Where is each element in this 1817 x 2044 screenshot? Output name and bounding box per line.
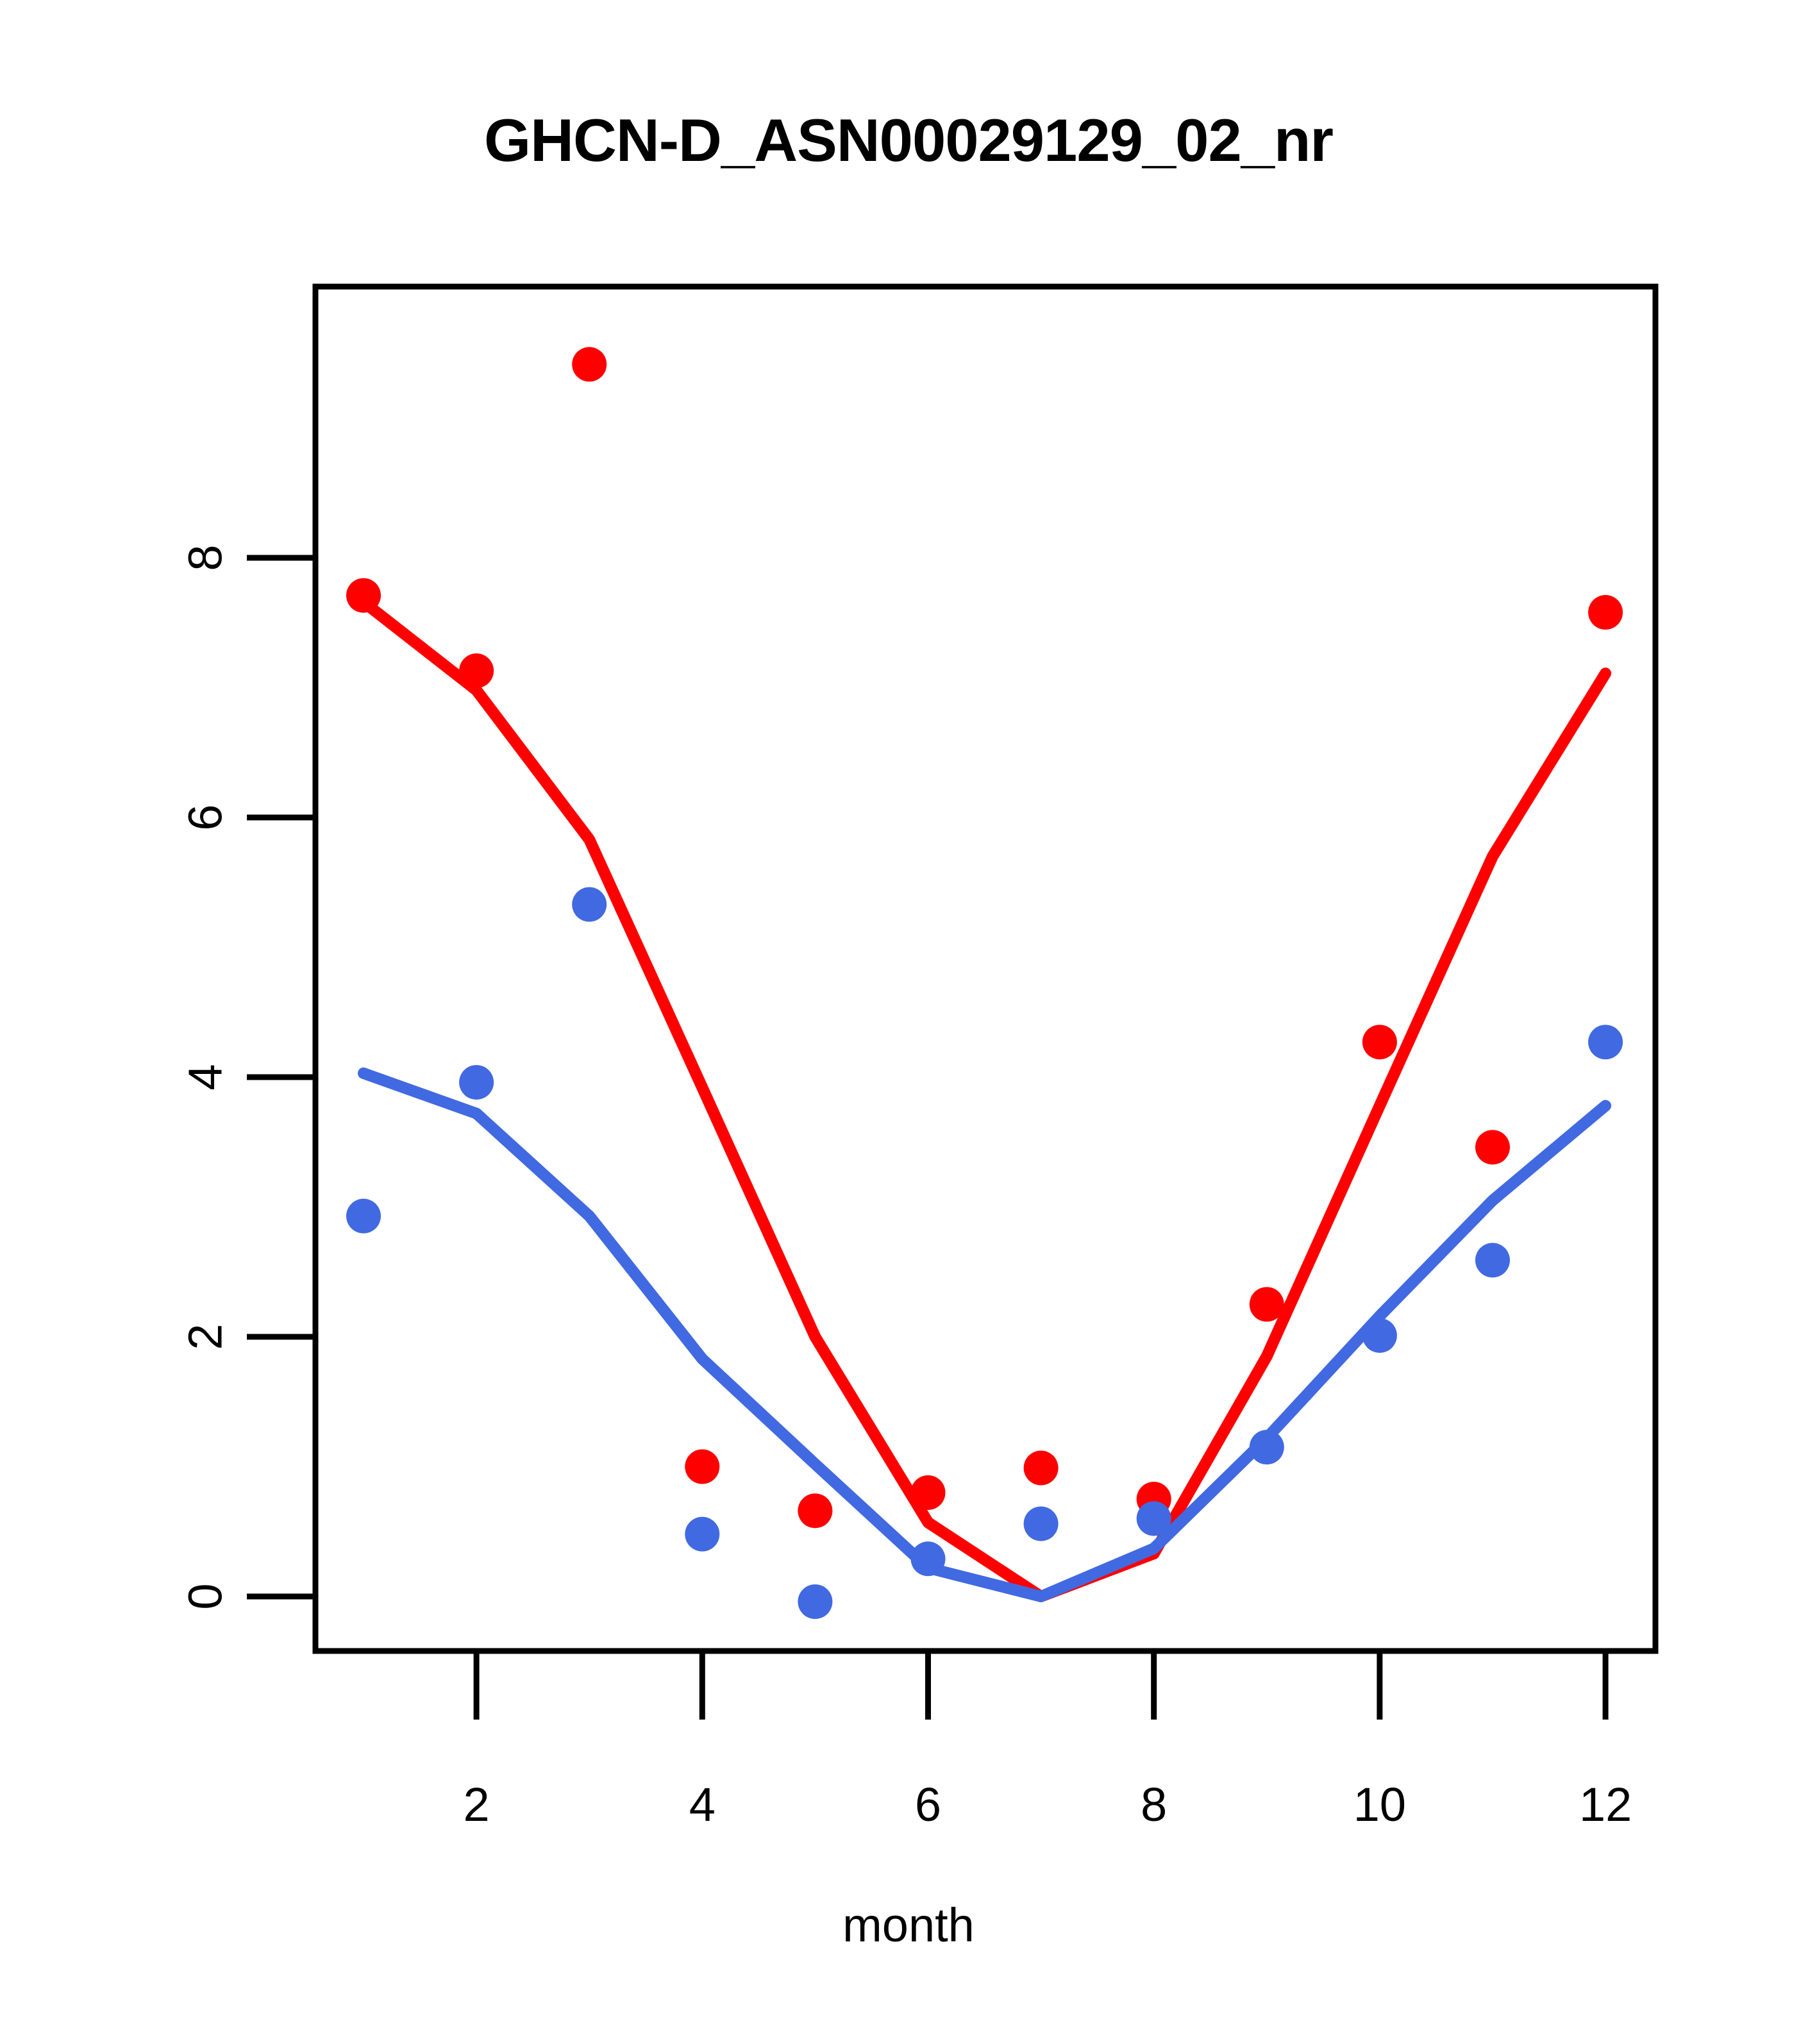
series-line-blue-line xyxy=(364,1073,1605,1596)
data-point-blue-points xyxy=(459,1065,494,1100)
x-tick-label: 12 xyxy=(1579,1778,1632,1831)
y-tick-label: 6 xyxy=(179,804,232,830)
scatter-line-chart: 24681012 02468 xyxy=(0,0,1817,2044)
data-point-red-points xyxy=(685,1450,719,1484)
y-tick-label: 8 xyxy=(179,544,232,571)
x-axis: 24681012 xyxy=(464,1651,1632,1831)
plot-figure: GHCN-D_ASN00029129_02_nr 24681012 02468 … xyxy=(0,0,1817,2044)
series-line-red-line xyxy=(364,602,1605,1596)
data-point-red-points xyxy=(1024,1451,1059,1486)
data-point-blue-points xyxy=(1475,1243,1510,1278)
data-point-blue-points xyxy=(911,1541,946,1576)
data-point-red-points xyxy=(911,1475,946,1510)
y-axis: 02468 xyxy=(179,544,316,1609)
x-tick-label: 8 xyxy=(1141,1778,1167,1831)
data-point-blue-points xyxy=(1588,1025,1623,1059)
plot-border xyxy=(315,287,1655,1651)
x-tick-label: 10 xyxy=(1353,1778,1406,1831)
data-point-red-points xyxy=(459,653,494,688)
data-point-red-points xyxy=(798,1493,832,1528)
data-point-red-points xyxy=(1250,1287,1284,1321)
data-point-blue-points xyxy=(1137,1502,1171,1536)
x-tick-label: 2 xyxy=(464,1778,490,1831)
plot-frame xyxy=(315,287,1655,1651)
data-point-blue-points xyxy=(685,1517,719,1552)
data-point-red-points xyxy=(572,347,607,381)
data-point-red-points xyxy=(346,578,381,613)
y-tick-label: 4 xyxy=(179,1064,232,1090)
data-point-red-points xyxy=(1588,595,1623,630)
x-axis-label: month xyxy=(0,1898,1817,1952)
data-point-blue-points xyxy=(1362,1318,1397,1353)
data-point-blue-points xyxy=(1250,1430,1284,1464)
x-tick-label: 4 xyxy=(689,1778,716,1831)
data-point-blue-points xyxy=(346,1199,381,1234)
y-tick-label: 0 xyxy=(179,1583,232,1609)
data-point-red-points xyxy=(1475,1130,1510,1164)
data-point-red-points xyxy=(1362,1025,1397,1059)
data-point-blue-points xyxy=(572,887,607,922)
data-series-layer xyxy=(346,347,1623,1619)
data-point-blue-points xyxy=(798,1584,832,1619)
data-point-blue-points xyxy=(1024,1507,1059,1541)
x-tick-label: 6 xyxy=(915,1778,941,1831)
y-tick-label: 2 xyxy=(179,1323,232,1350)
